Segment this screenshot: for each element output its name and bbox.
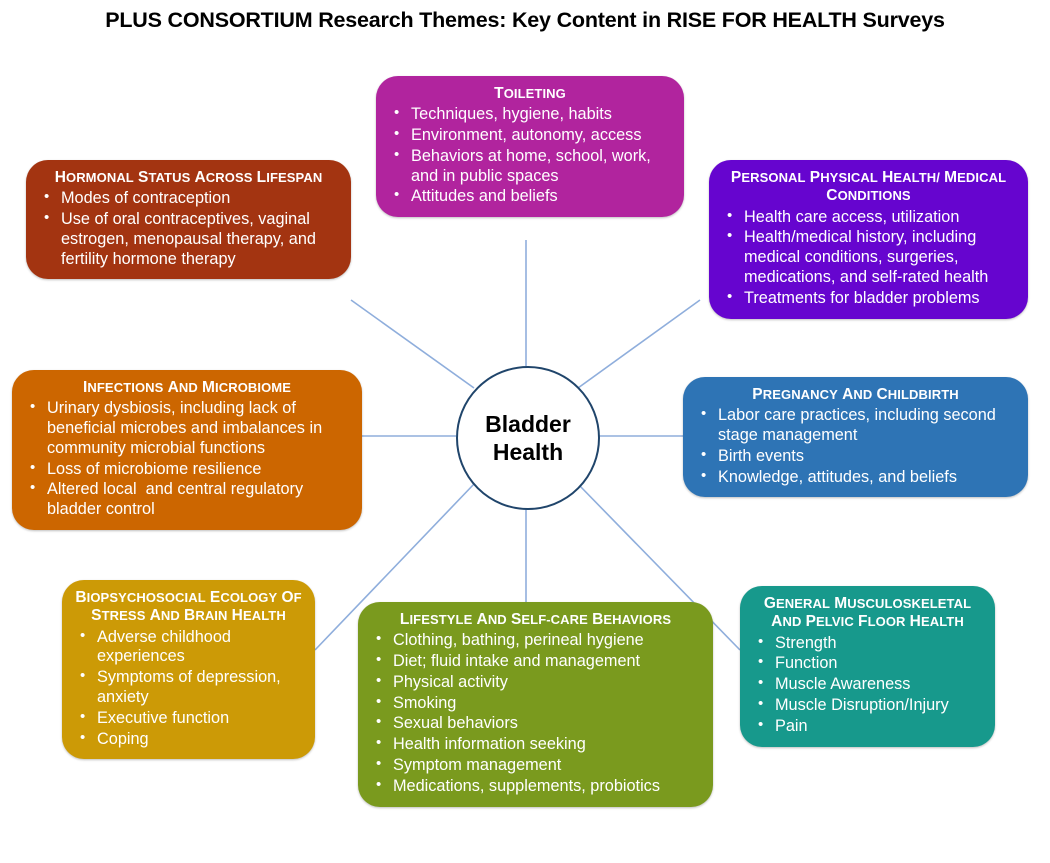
list-item: Modes of contraception bbox=[36, 189, 341, 209]
theme-bullets-lifestyle-self-care: Clothing, bathing, perineal hygiene Diet… bbox=[368, 631, 703, 796]
central-hub-bladder-health[interactable]: Bladder Health bbox=[456, 366, 600, 510]
theme-card-biopsychosocial-ecology[interactable]: BIOPSYCHOSOCIAL ECOLOGY OF STRESS AND BR… bbox=[62, 580, 315, 759]
theme-card-personal-physical-health[interactable]: PERSONAL PHYSICAL HEALTH/ MEDICAL CONDIT… bbox=[709, 160, 1028, 319]
theme-title-toileting: TOILETING bbox=[386, 85, 674, 103]
list-item: Clothing, bathing, perineal hygiene bbox=[368, 631, 703, 651]
connector-hormonal bbox=[351, 300, 474, 388]
list-item: Birth events bbox=[693, 447, 1018, 467]
theme-card-infections-microbiome[interactable]: INFECTIONS AND MICROBIOME Urinary dysbio… bbox=[12, 370, 362, 530]
theme-bullets-musculoskeletal-pelvic-floor: Strength Function Muscle Awareness Muscl… bbox=[750, 634, 985, 737]
theme-title-hormonal-status: HORMONAL STATUS ACROSS LIFESPAN bbox=[36, 169, 341, 187]
list-item: Medications, supplements, probiotics bbox=[368, 777, 703, 797]
theme-card-hormonal-status[interactable]: HORMONAL STATUS ACROSS LIFESPAN Modes of… bbox=[26, 160, 351, 279]
list-item: Attitudes and beliefs bbox=[386, 187, 674, 207]
theme-card-pregnancy-and-childbirth[interactable]: PREGNANCY AND CHILDBIRTH Labor care prac… bbox=[683, 377, 1028, 497]
list-item: Muscle Disruption/Injury bbox=[750, 696, 985, 716]
theme-bullets-biopsychosocial-ecology: Adverse childhood experiences Symptoms o… bbox=[72, 628, 305, 750]
list-item: Altered local and central regulatory bla… bbox=[22, 480, 352, 520]
theme-title-biopsychosocial-ecology: BIOPSYCHOSOCIAL ECOLOGY OF STRESS AND BR… bbox=[72, 589, 305, 626]
theme-bullets-toileting: Techniques, hygiene, habits Environment,… bbox=[386, 105, 674, 207]
theme-bullets-infections-microbiome: Urinary dysbiosis, including lack of ben… bbox=[22, 399, 352, 520]
theme-title-musculoskeletal-pelvic-floor: GENERAL MUSCULOSKELETAL AND PELVIC FLOOR… bbox=[750, 595, 985, 632]
list-item: Knowledge, attitudes, and beliefs bbox=[693, 468, 1018, 488]
list-item: Health/medical history, including medica… bbox=[719, 228, 1018, 287]
list-item: Environment, autonomy, access bbox=[386, 126, 674, 146]
list-item: Health information seeking bbox=[368, 735, 703, 755]
list-item: Behaviors at home, school, work, and in … bbox=[386, 147, 674, 187]
theme-title-infections-microbiome: INFECTIONS AND MICROBIOME bbox=[22, 379, 352, 397]
list-item: Strength bbox=[750, 634, 985, 654]
theme-card-toileting[interactable]: TOILETING Techniques, hygiene, habits En… bbox=[376, 76, 684, 217]
list-item: Smoking bbox=[368, 694, 703, 714]
theme-card-lifestyle-self-care[interactable]: LIFESTYLE AND SELF-CARE BEHAVIORS Clothi… bbox=[358, 602, 713, 807]
list-item: Adverse childhood experiences bbox=[72, 628, 305, 668]
connector-personal bbox=[578, 300, 700, 388]
page-title: PLUS CONSORTIUM Research Themes: Key Con… bbox=[0, 8, 1050, 33]
theme-title-pregnancy-and-childbirth: PREGNANCY AND CHILDBIRTH bbox=[693, 386, 1018, 404]
list-item: Health care access, utilization bbox=[719, 208, 1018, 228]
list-item: Techniques, hygiene, habits bbox=[386, 105, 674, 125]
theme-bullets-hormonal-status: Modes of contraception Use of oral contr… bbox=[36, 189, 341, 269]
list-item: Treatments for bladder problems bbox=[719, 289, 1018, 309]
list-item: Symptom management bbox=[368, 756, 703, 776]
list-item: Loss of microbiome resilience bbox=[22, 460, 352, 480]
list-item: Coping bbox=[72, 730, 305, 750]
theme-card-musculoskeletal-pelvic-floor[interactable]: GENERAL MUSCULOSKELETAL AND PELVIC FLOOR… bbox=[740, 586, 995, 747]
list-item: Function bbox=[750, 654, 985, 674]
list-item: Executive function bbox=[72, 709, 305, 729]
list-item: Pain bbox=[750, 717, 985, 737]
list-item: Use of oral contraceptives, vaginal estr… bbox=[36, 210, 341, 269]
theme-title-lifestyle-self-care: LIFESTYLE AND SELF-CARE BEHAVIORS bbox=[368, 611, 703, 629]
theme-bullets-pregnancy-and-childbirth: Labor care practices, including second s… bbox=[693, 406, 1018, 487]
list-item: Sexual behaviors bbox=[368, 714, 703, 734]
list-item: Urinary dysbiosis, including lack of ben… bbox=[22, 399, 352, 458]
central-hub-label: Bladder Health bbox=[485, 410, 571, 466]
list-item: Muscle Awareness bbox=[750, 675, 985, 695]
theme-title-personal-physical-health: PERSONAL PHYSICAL HEALTH/ MEDICAL CONDIT… bbox=[719, 169, 1018, 206]
theme-bullets-personal-physical-health: Health care access, utilization Health/m… bbox=[719, 208, 1018, 309]
central-hub-label-line1: Bladder bbox=[485, 411, 571, 437]
diagram-canvas: PLUS CONSORTIUM Research Themes: Key Con… bbox=[0, 0, 1050, 863]
list-item: Symptoms of depression, anxiety bbox=[72, 668, 305, 708]
list-item: Diet; fluid intake and management bbox=[368, 652, 703, 672]
list-item: Labor care practices, including second s… bbox=[693, 406, 1018, 446]
list-item: Physical activity bbox=[368, 673, 703, 693]
central-hub-label-line2: Health bbox=[493, 439, 563, 465]
